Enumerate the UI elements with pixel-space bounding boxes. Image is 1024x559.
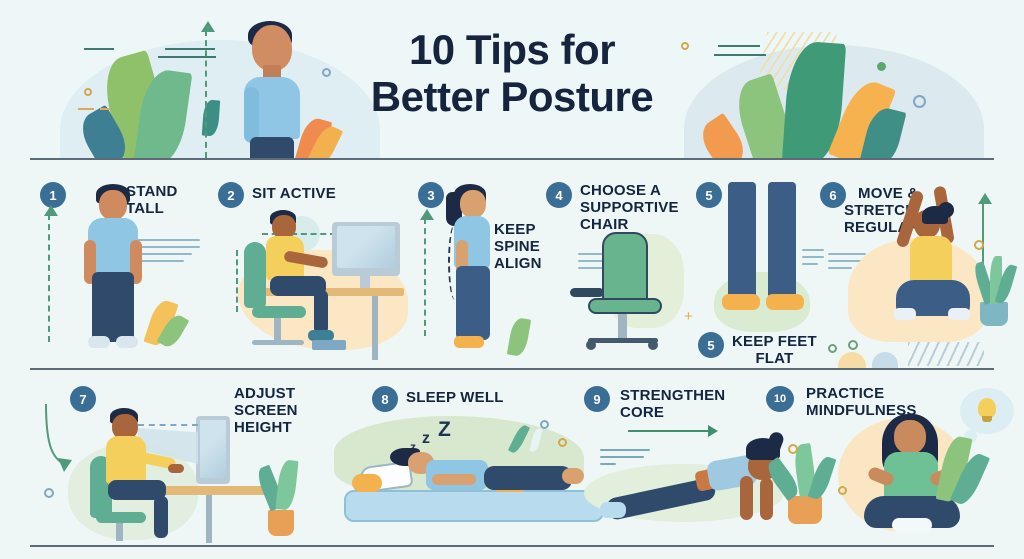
arrow-up-icon	[424, 218, 426, 336]
leaf-icon	[507, 317, 531, 358]
page-title: 10 Tips for Better Posture	[0, 26, 1024, 120]
shin-shape	[154, 496, 168, 538]
footrest-shape	[312, 340, 346, 350]
tip-panel-7[interactable]: 7 ADJUST SCREEN HEIGHT	[34, 382, 304, 542]
title-line-1: 10 Tips for	[0, 26, 1024, 73]
badge-label: 2	[227, 188, 234, 203]
shin-shape	[314, 290, 328, 334]
head-shape	[460, 190, 486, 218]
circle-decor	[848, 340, 858, 350]
tip-title-line: SCREEN	[234, 403, 312, 420]
tip-title-line: PRACTICE	[806, 386, 936, 403]
sleep-symbol-large: Z	[438, 418, 451, 442]
tip-figure-sleeping	[388, 446, 598, 496]
leg-right-shape	[768, 182, 796, 298]
circle-decor	[558, 438, 567, 447]
tip-panel-3[interactable]: 3 KEEP SPINE ALIGN	[414, 180, 554, 364]
tip-title-4: CHOOSE A SUPPORTIVE CHAIR	[580, 183, 688, 233]
desk-leg	[372, 296, 378, 360]
tip-title-line: ADJUST	[234, 386, 312, 403]
circle-decor	[838, 486, 847, 495]
tip-panel-5[interactable]: 5 5 KEEP FEET FLAT	[694, 180, 824, 364]
tip-number-badge-2: 2	[218, 182, 244, 208]
tip-panel-1[interactable]: 1 STAND TALL	[34, 180, 214, 360]
arrow-up-icon	[48, 214, 50, 342]
cushion-shape	[352, 474, 382, 492]
lightbulb-icon	[978, 398, 996, 418]
tip-title-9: STRENGTHEN CORE	[620, 388, 730, 422]
circle-decor	[788, 444, 798, 454]
tip-figure-standing	[80, 184, 146, 354]
head-shape	[894, 420, 926, 454]
tip-title-line: STRENGTHEN	[620, 388, 730, 405]
tip-panel-10[interactable]: 10 PRACTICE MINDFULNESS	[764, 386, 1024, 544]
legs-shape	[250, 137, 294, 160]
legs-shape	[484, 466, 572, 490]
tip-number-badge-8: 8	[372, 386, 398, 412]
chair-seat	[588, 298, 662, 314]
torso-shape	[910, 236, 952, 284]
header-banner: 10 Tips for Better Posture	[0, 0, 1024, 160]
shoe-left-shape	[722, 294, 760, 310]
tip-title-text: SLEEP WELL	[406, 390, 504, 407]
chair-post	[618, 314, 627, 340]
tip-title-line: SUPPORTIVE	[580, 200, 688, 217]
arrow-head-icon	[708, 425, 718, 437]
tip-figure-sitting	[260, 210, 350, 350]
title-line-2: Better Posture	[0, 73, 1024, 120]
monitor-stand	[360, 276, 370, 288]
plant-pot	[268, 510, 294, 536]
chair-armrest	[570, 288, 604, 297]
badge-label: 5	[705, 188, 712, 203]
shoe-shape	[600, 502, 626, 518]
infographic-poster: 10 Tips for Better Posture 1 STAND TALL	[0, 0, 1024, 559]
plant-pot	[980, 302, 1008, 326]
tip-title-line: FLAT	[732, 351, 817, 368]
foot-shape	[892, 518, 932, 532]
tip-title-line: CHOOSE A	[580, 183, 688, 200]
badge-label: 4	[555, 188, 562, 203]
circle-decor	[974, 240, 984, 250]
tip-number-badge-10: 10	[766, 386, 794, 412]
header-divider	[30, 158, 994, 160]
tip-figure-spine-align	[444, 184, 500, 356]
row-2-divider	[30, 545, 994, 547]
tip-number-badge-9: 9	[584, 386, 610, 412]
hand-shape	[168, 464, 184, 473]
tip-panel-4[interactable]: 4 CHOOSE A SUPPORTIVE CHAIR +	[544, 180, 694, 364]
spine-curve-decor	[236, 250, 238, 312]
tip-number-badge-3: 3	[418, 182, 444, 208]
shoe-shape	[454, 336, 484, 348]
hatch-decor	[908, 342, 984, 366]
shoe-right-shape	[116, 336, 138, 348]
tip-panel-6[interactable]: 6 MOVE & STRETCH REGULARLY	[818, 180, 1024, 364]
tip-title-line: KEEP FEET	[732, 334, 817, 351]
circle-decor	[540, 420, 549, 429]
motion-arrow-icon	[628, 430, 710, 432]
arrow-up-icon	[982, 202, 984, 268]
badge-label: 8	[381, 392, 388, 407]
legs-shape	[92, 272, 134, 342]
tip-panel-2[interactable]: 2 SIT ACTIVE	[214, 180, 414, 364]
arm-shape	[740, 476, 753, 520]
badge-label: 9	[593, 392, 600, 407]
shoe-left-shape	[88, 336, 110, 348]
row-1-divider	[30, 368, 994, 370]
tip-number-badge-5b: 5	[698, 332, 724, 358]
circle-decor	[44, 488, 54, 498]
tip-title-line: CORE	[620, 405, 730, 422]
tip-title-5: KEEP FEET FLAT	[732, 332, 817, 368]
foot-shape	[562, 468, 584, 484]
badge-label: 7	[79, 392, 86, 407]
chair-backrest	[602, 232, 648, 304]
badge-label: 3	[427, 188, 434, 203]
tip-figure-feet	[720, 182, 808, 342]
shoe-shape	[948, 308, 970, 320]
tip-header-8: 8 SLEEP WELL	[372, 386, 504, 412]
tip-figure-desk-posture	[100, 408, 200, 538]
tip-header-2: 2 SIT ACTIVE	[218, 182, 336, 208]
tip-title-line: HEIGHT	[234, 420, 312, 437]
plus-decor: +	[684, 308, 693, 325]
hair-shape	[922, 206, 948, 224]
desk-leg	[206, 495, 212, 543]
shoe-right-shape	[766, 294, 804, 310]
lightbulb-base	[982, 416, 992, 422]
badge-label: 1	[49, 188, 56, 203]
tip-title-2: SIT ACTIVE	[252, 182, 336, 203]
tip-header-5-label: 5 KEEP FEET FLAT	[698, 332, 817, 368]
leg-left-shape	[728, 182, 756, 298]
tip-title-8: SLEEP WELL	[406, 386, 504, 407]
tip-number-badge-5: 5	[696, 182, 722, 208]
badge-label: 5	[707, 338, 714, 353]
head-shape	[99, 190, 127, 220]
arrow-curve-icon	[38, 400, 78, 480]
tip-title-line: CHAIR	[580, 217, 688, 234]
tip-number-badge-6: 6	[820, 182, 846, 208]
leaf-icon	[275, 459, 298, 511]
tip-number-badge-4: 4	[546, 182, 572, 208]
shoe-shape	[894, 308, 916, 320]
plant-pot	[788, 496, 822, 524]
badge-label: 6	[829, 188, 836, 203]
chair-wheel	[648, 340, 658, 350]
monitor-screen	[200, 420, 226, 478]
tip-title-text: SIT ACTIVE	[252, 186, 336, 203]
spine-curve-icon	[448, 224, 462, 300]
arm-shape	[432, 474, 476, 485]
badge-label: 10	[774, 393, 786, 405]
chair-wheel	[586, 340, 596, 350]
tip-title-7: ADJUST SCREEN HEIGHT	[234, 386, 312, 436]
